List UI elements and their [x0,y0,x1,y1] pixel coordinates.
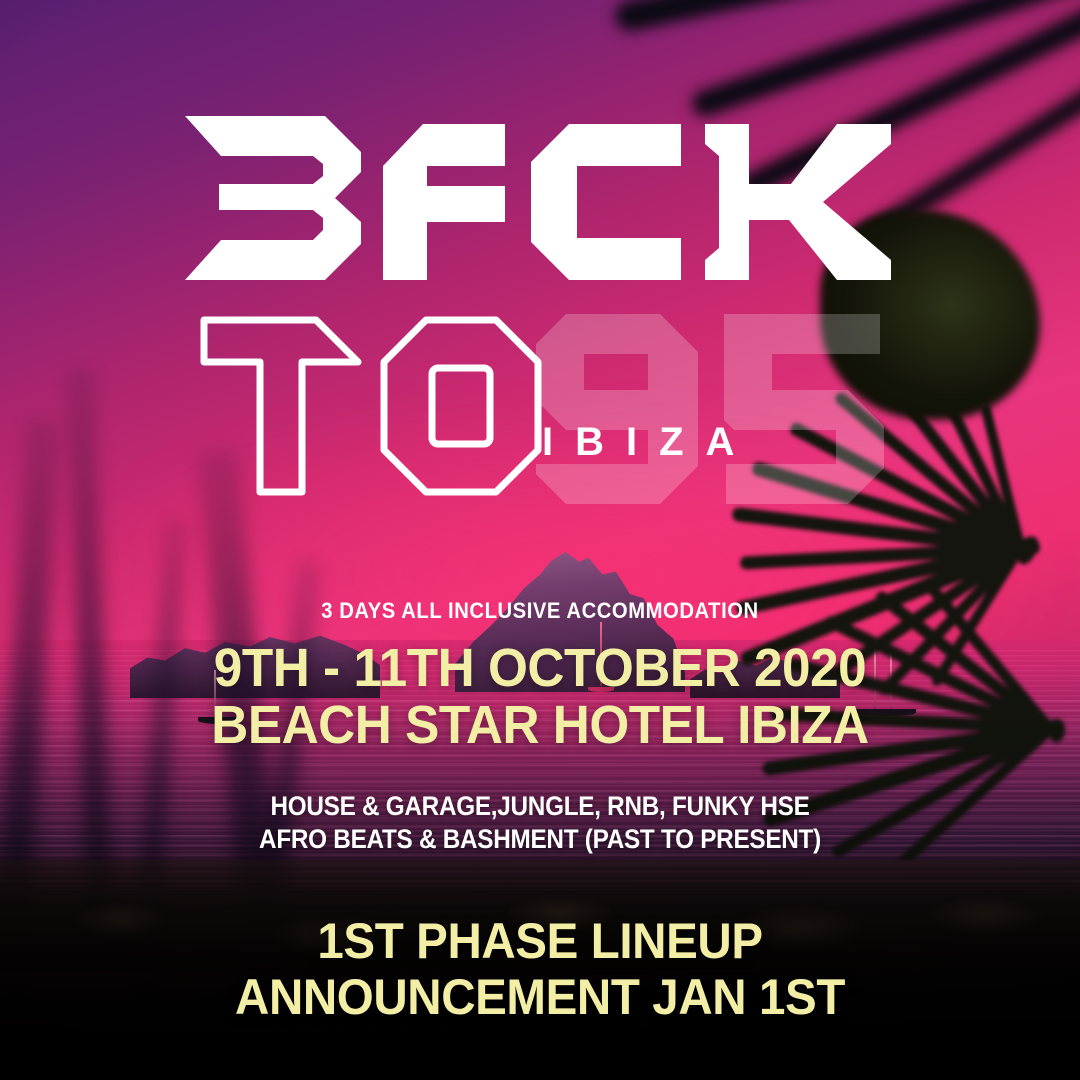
announcement-line-2: ANNOUNCEMENT JAN 1ST [27,969,1053,1025]
logo-lockup: IBIZA [0,110,1080,514]
headline-block: 9TH - 11TH OCTOBER 2020 BEACH STAR HOTEL… [27,640,1053,754]
genres-line-1: HOUSE & GARAGE,JUNGLE, RNB, FUNKY HSE [270,791,809,821]
logo-back-wordmark [175,110,905,300]
logo-ibiza-text: IBIZA [542,422,756,462]
genres-line-2: AFRO BEATS & BASHMENT (PAST TO PRESENT) [54,823,1026,855]
event-dates: 9TH - 11TH OCTOBER 2020 [214,638,866,698]
announcement-line-1: 1ST PHASE LINEUP [317,913,762,969]
event-poster: IBIZA 3 DAYS ALL INCLUSIVE ACCOMMODATION… [0,0,1080,1080]
event-venue: BEACH STAR HOTEL IBIZA [27,697,1053,754]
logo-95-ghost [528,314,888,504]
event-info-block: 3 DAYS ALL INCLUSIVE ACCOMMODATION 9TH -… [0,598,1080,1025]
genres-block: HOUSE & GARAGE,JUNGLE, RNB, FUNKY HSE AF… [54,790,1026,855]
logo-to-row: IBIZA [180,304,900,514]
logo-to-outline [198,306,558,506]
announcement-block: 1ST PHASE LINEUP ANNOUNCEMENT JAN 1ST [27,913,1053,1025]
tagline-text: 3 DAYS ALL INCLUSIVE ACCOMMODATION [43,598,1037,624]
